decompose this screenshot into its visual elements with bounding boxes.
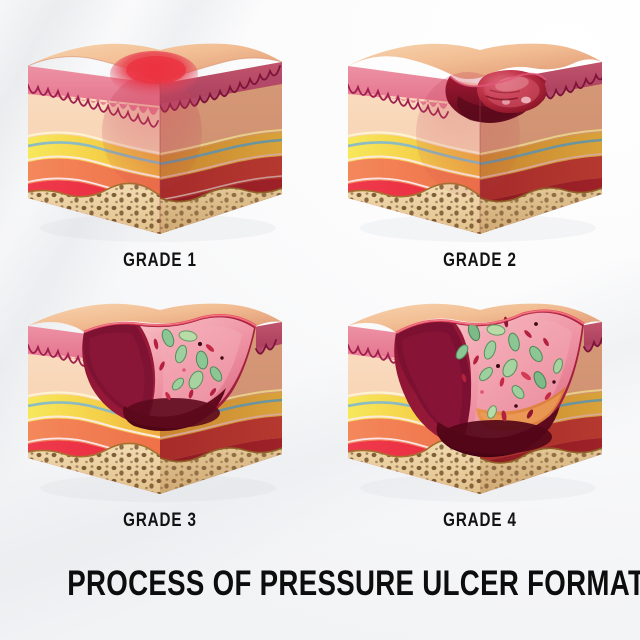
grade-3-illustration [20, 282, 300, 512]
grade-1-illustration [20, 22, 300, 252]
poster-canvas: GRADE 1 [0, 0, 640, 640]
grade-card-2[interactable]: GRADE 2 [340, 22, 620, 282]
grade-2-label: GRADE 2 [368, 250, 592, 272]
grade-card-4[interactable]: GRADE 4 [340, 282, 620, 542]
grade-4-label: GRADE 4 [368, 510, 592, 532]
grade-2-illustration [340, 22, 620, 252]
poster-title: PROCESS OF PRESSURE ULCER FORMATION [67, 564, 573, 604]
grade-card-3[interactable]: GRADE 3 [20, 282, 300, 542]
grade-grid: GRADE 1 [0, 0, 640, 555]
grade-3-label: GRADE 3 [48, 510, 272, 532]
grade-card-1[interactable]: GRADE 1 [20, 22, 300, 282]
grade-4-illustration [340, 282, 620, 512]
grade-1-label: GRADE 1 [48, 250, 272, 272]
